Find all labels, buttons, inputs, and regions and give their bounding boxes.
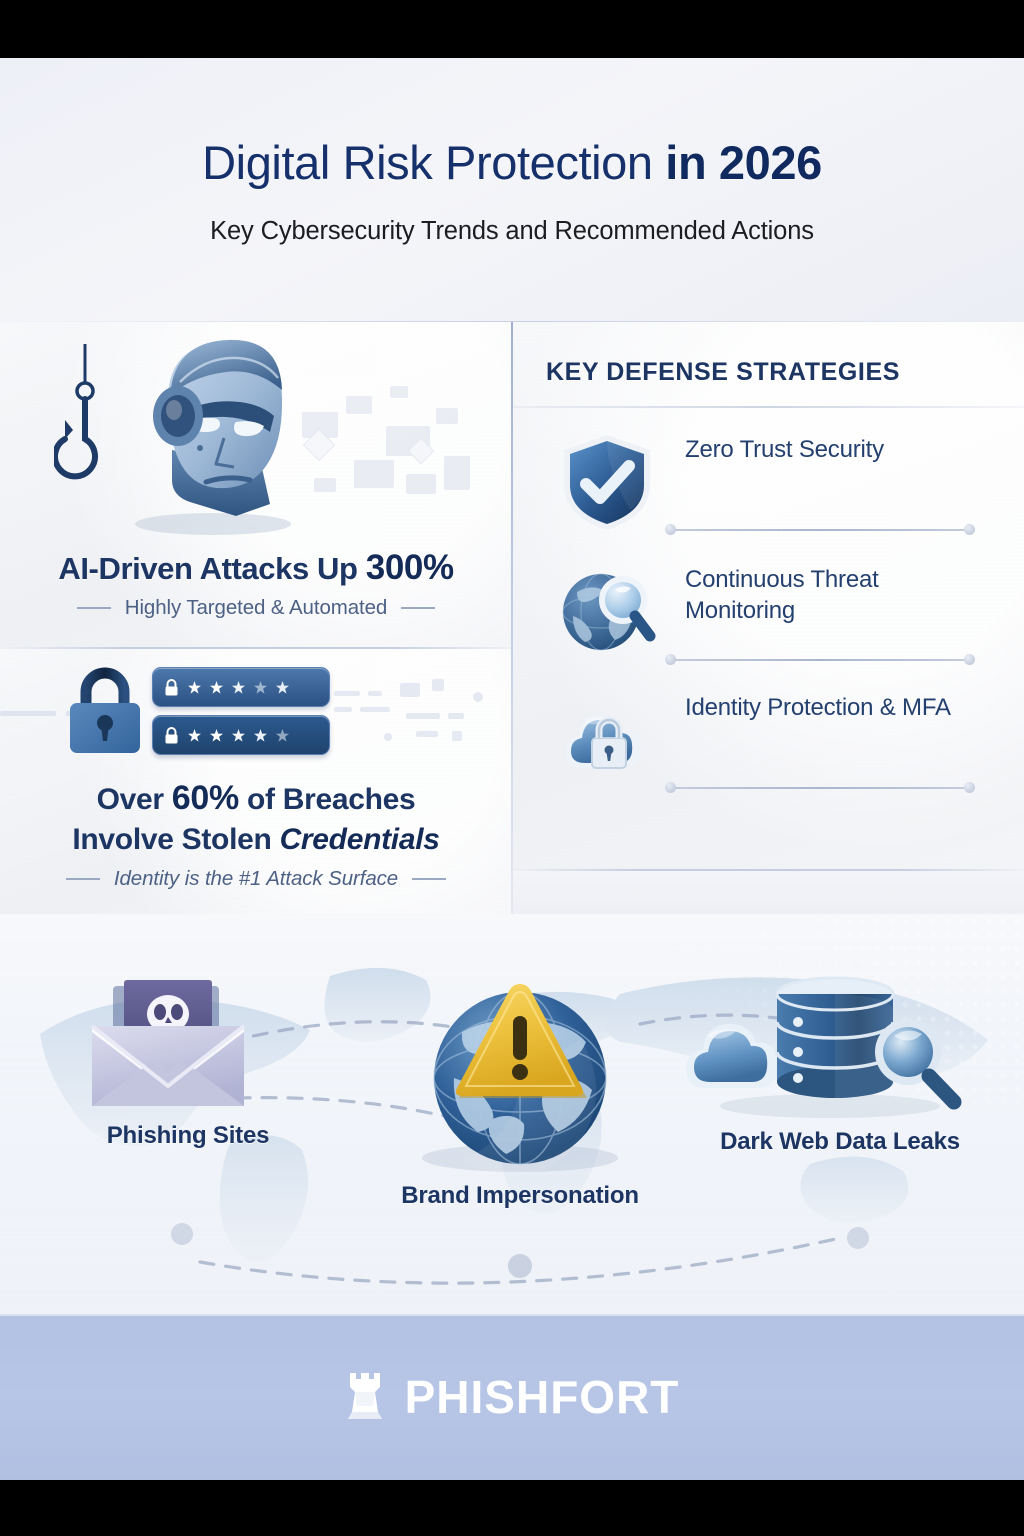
divider-dash-right <box>412 878 446 880</box>
cred-prefix: Over <box>97 783 172 816</box>
stat-subtext-ai: Highly Targeted & Automated <box>0 596 512 620</box>
password-star-3 <box>232 729 245 742</box>
threat-node-dark-web-leaks[interactable]: Dark Web Data Leaks <box>680 970 980 1170</box>
cred2-emphasis: Credentials <box>280 823 440 856</box>
defense-heading: KEY DEFENSE STRATEGIES <box>546 358 900 387</box>
divider-dash-left <box>66 878 100 880</box>
defense-connector <box>665 782 975 793</box>
letterbox-bottom <box>0 1480 1024 1536</box>
phishing-hook-icon <box>54 344 116 494</box>
threat-node-label: Dark Web Data Leaks <box>690 1128 990 1156</box>
infographic-poster: Digital Risk Protection in 2026 Key Cybe… <box>0 58 1024 1480</box>
password-star-4 <box>254 681 267 694</box>
defense-item-threat-monitoring[interactable]: Continuous Threat Monitoring <box>513 550 1024 680</box>
divider-dash-right <box>401 607 435 609</box>
password-star-3 <box>232 681 245 694</box>
left-panel-divider <box>0 647 511 649</box>
threat-landscape-section: Phishing Sites <box>0 914 1024 1314</box>
stat-subtext-label: Highly Targeted & Automated <box>125 596 387 620</box>
globe-magnifier-icon <box>555 560 659 664</box>
connector-line <box>675 787 965 789</box>
cloud-database-magnifier-icon <box>680 970 980 1120</box>
threat-node-phishing-sites[interactable]: Phishing Sites <box>66 974 366 1174</box>
defense-strategies-card: KEY DEFENSE STRATEGIES <box>513 322 1024 870</box>
title-bold: in 2026 <box>665 136 822 189</box>
path-node-right <box>847 1227 869 1249</box>
page-subtitle: Key Cybersecurity Trends and Recommended… <box>210 217 814 246</box>
padlock-icon <box>62 667 148 759</box>
letterbox-top <box>0 0 1024 58</box>
password-star-4 <box>254 729 267 742</box>
defense-card-footer-space <box>513 870 1024 914</box>
password-bar-1 <box>152 667 330 707</box>
stat-card-stolen-credentials: Over 60% of Breaches Involve Stolen Cred… <box>0 649 512 914</box>
defense-connector <box>665 524 975 535</box>
lock-mini-icon <box>164 727 179 744</box>
stat-card-ai-attacks: AI-Driven Attacks Up 300% Highly Targete… <box>0 322 512 647</box>
password-star-2 <box>210 729 223 742</box>
password-star-5 <box>276 681 289 694</box>
connector-dot-right <box>964 782 975 793</box>
brand-logo-text: PHISHFORT <box>405 1370 680 1424</box>
defense-item-label: Zero Trust Security <box>685 434 985 465</box>
path-node-mid <box>508 1254 532 1278</box>
cloud-lock-icon <box>555 688 659 792</box>
globe-warning-icon <box>370 960 670 1180</box>
password-star-1 <box>188 729 201 742</box>
rook-chess-piece-icon <box>345 1369 385 1425</box>
title-regular: Digital Risk Protection <box>202 136 665 189</box>
mid-section: AI-Driven Attacks Up 300% Highly Targete… <box>0 322 1024 914</box>
defense-item-identity-mfa[interactable]: Identity Protection & MFA <box>513 678 1024 808</box>
circuit-decoration <box>328 673 498 763</box>
envelope-skull-icon <box>66 974 366 1114</box>
divider-dash-left <box>77 607 111 609</box>
stat-headline-credentials-line2: Involve Stolen Credentials <box>0 823 512 857</box>
stat-subtext-credentials: Identity is the #1 Attack Surface <box>0 867 512 891</box>
page-title: Digital Risk Protection in 2026 <box>202 135 822 190</box>
connector-dot-right <box>964 654 975 665</box>
threat-node-label: Phishing Sites <box>38 1122 338 1150</box>
poster-header: Digital Risk Protection in 2026 Key Cybe… <box>0 58 1024 322</box>
connector-line <box>675 659 965 661</box>
connector-line <box>675 529 965 531</box>
stat-prefix: AI-Driven Attacks Up <box>58 551 365 586</box>
defense-card-bottom-divider <box>513 869 1024 871</box>
password-star-1 <box>188 681 201 694</box>
password-star-2 <box>210 681 223 694</box>
defense-heading-rule <box>513 406 1024 408</box>
lock-mini-icon <box>164 679 179 696</box>
threat-node-label: Brand Impersonation <box>370 1182 670 1210</box>
cred-suffix: of Breaches <box>239 783 415 816</box>
cred-value: 60% <box>172 779 239 817</box>
threat-node-brand-impersonation[interactable]: Brand Impersonation <box>370 960 670 1200</box>
stat-value: 300% <box>366 548 454 587</box>
defense-item-zero-trust[interactable]: Zero Trust Security <box>513 420 1024 550</box>
defense-item-label: Continuous Threat Monitoring <box>685 564 985 626</box>
password-star-5 <box>276 729 289 742</box>
defense-item-label: Identity Protection & MFA <box>685 692 985 723</box>
connector-dot-right <box>964 524 975 535</box>
tech-squares-decoration <box>294 382 484 532</box>
cred2-prefix: Involve Stolen <box>72 823 279 856</box>
stat-headline-ai: AI-Driven Attacks Up 300% <box>0 548 512 588</box>
stat-subtext-label: Identity is the #1 Attack Surface <box>114 867 398 891</box>
path-node-left <box>171 1223 193 1245</box>
poster-footer: PHISHFORT <box>0 1314 1024 1480</box>
robot-head-icon <box>108 330 308 535</box>
shield-check-icon <box>555 430 659 534</box>
stat-headline-credentials-line1: Over 60% of Breaches <box>0 779 512 818</box>
defense-connector <box>665 654 975 665</box>
password-bar-2 <box>152 715 330 755</box>
